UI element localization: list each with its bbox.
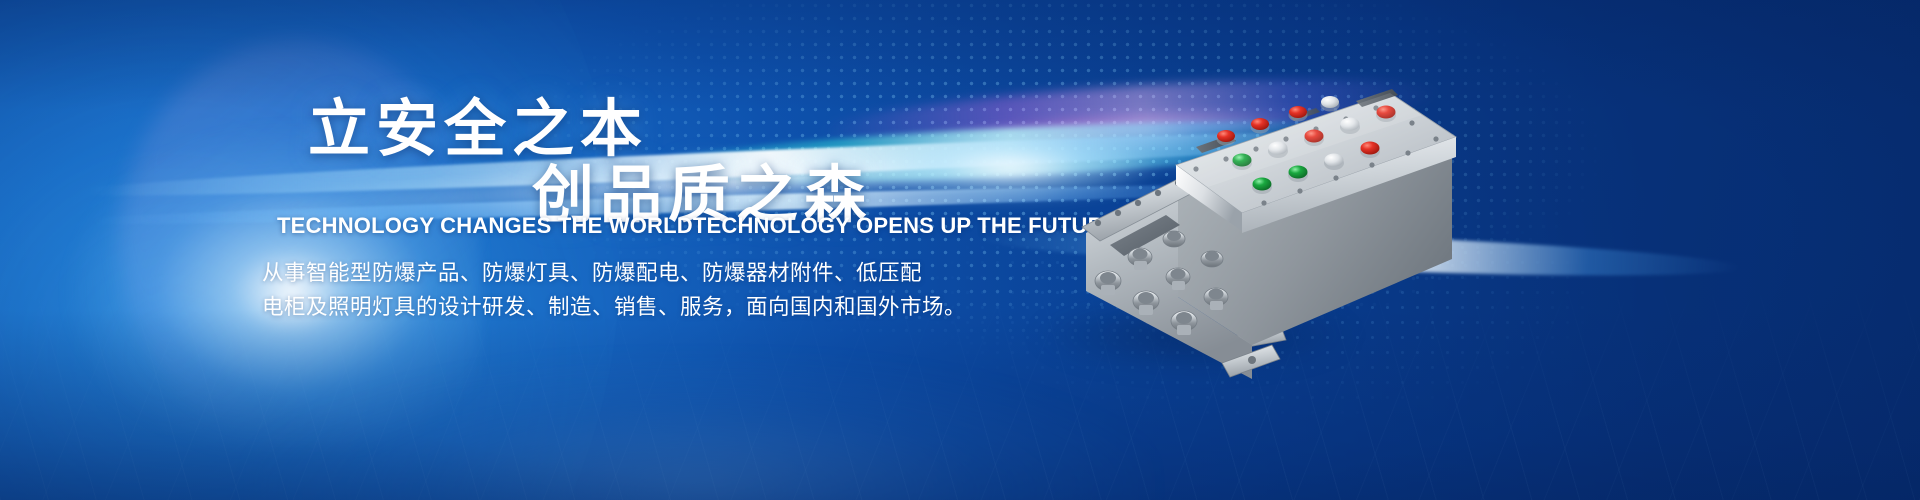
indicator-red: [1217, 130, 1235, 142]
indicator-red: [1251, 118, 1269, 130]
indicator-white: [1325, 154, 1344, 167]
indicator-white: [1321, 96, 1339, 108]
product-image-explosion-proof-box: [990, 45, 1470, 415]
indicator-red: [1289, 106, 1307, 118]
cable-gland: [1201, 251, 1223, 267]
explosion-proof-control-box-illustration: [990, 45, 1470, 415]
banner-copy: 立安全之本 创品质之森 TECHNOLOGY CHANGES THE WORLD…: [0, 0, 1000, 500]
cable-gland: [1163, 231, 1185, 247]
hero-banner: 立安全之本 创品质之森 TECHNOLOGY CHANGES THE WORLD…: [0, 0, 1920, 500]
indicator-red: [1361, 142, 1380, 155]
description-line-2: 电柜及照明灯具的设计研发、制造、销售、服务，面向国内和国外市场。: [262, 290, 942, 324]
indicator-green: [1253, 178, 1272, 191]
indicator-green: [1289, 166, 1308, 179]
description-line-1: 从事智能型防爆产品、防爆灯具、防爆配电、防爆器材附件、低压配: [262, 256, 942, 290]
description-text: 从事智能型防爆产品、防爆灯具、防爆配电、防爆器材附件、低压配 电柜及照明灯具的设…: [262, 256, 942, 324]
